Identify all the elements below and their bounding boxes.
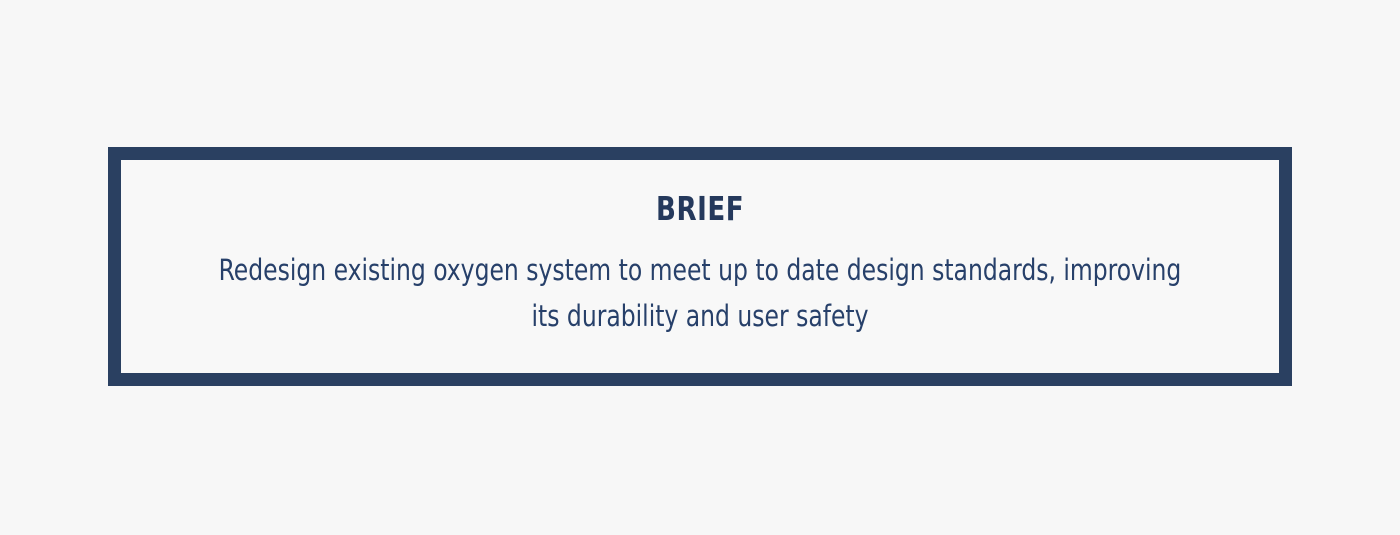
page-canvas: BRIEF Redesign existing oxygen system to… — [0, 0, 1400, 535]
brief-callout-box: BRIEF Redesign existing oxygen system to… — [108, 147, 1292, 386]
brief-body-text: Redesign existing oxygen system to meet … — [210, 247, 1191, 339]
brief-callout-inner: BRIEF Redesign existing oxygen system to… — [121, 160, 1279, 373]
brief-heading: BRIEF — [656, 192, 744, 227]
